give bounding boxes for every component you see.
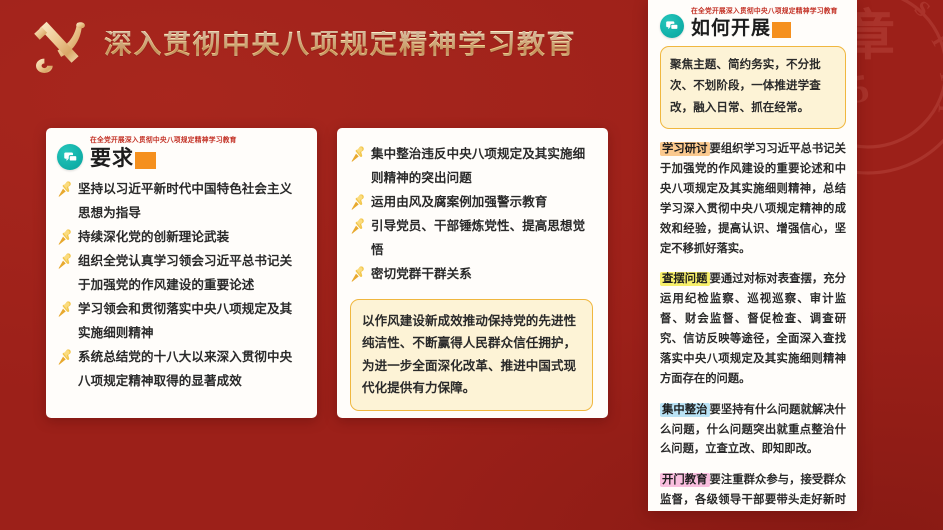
tasks-list: 集中整治违反中央八项规定及其实施细则精神的突出问题运用由风及腐案例加强警示教育引… <box>350 142 593 286</box>
list-item: 持续深化党的创新理论武装 <box>57 225 303 249</box>
howto-summary: 聚焦主题、简约务实，不分批次、不划阶段，一体推进学查改，融入日常、抓在经常。 <box>660 46 846 129</box>
howto-paragraph: 学习研讨要组织学习习近平总书记关于加强党的作风建设的重要论述和中央八项规定及其实… <box>660 140 846 259</box>
chat-bubble-icon <box>660 14 684 38</box>
pushpin-icon <box>350 218 365 234</box>
howto-paragraph-tag: 学习研讨 <box>660 142 710 156</box>
list-item: 引导党员、干部锤炼党性、提高思想觉悟 <box>350 214 593 262</box>
svg-text:T: T <box>934 65 943 86</box>
howto-paragraph-body: 要通过对标对表查摆，充分运用纪检监察、巡视巡察、审计监督、财会监督、督促检查、调… <box>660 273 846 384</box>
list-item: 运用由风及腐案例加强警示教育 <box>350 190 593 214</box>
panel-kicker: 在全党开展深入贯彻中央八项规定精神学习教育 <box>691 8 838 16</box>
list-item-label: 密切党群干群关系 <box>371 267 472 281</box>
card-heading-text: 要求 <box>90 147 134 170</box>
list-item: 组织全党认真学习领会习近平总书记关于加强党的作风建设的重要论述 <box>57 249 303 297</box>
list-item-label: 坚持以习近平新时代中国特色社会主义思想为指导 <box>78 182 292 220</box>
requirements-list: 坚持以习近平新时代中国特色社会主义思想为指导持续深化党的创新理论武装组织全党认真… <box>57 177 303 393</box>
panel-heading: 如何开展 <box>691 18 791 39</box>
list-item-label: 系统总结党的十八大以来深入贯彻中央八项规定精神取得的显著成效 <box>78 350 292 388</box>
svg-text:I: I <box>927 30 943 50</box>
pushpin-icon <box>57 181 72 197</box>
howto-paragraph: 集中整治要坚持有什么问题就解决什么问题，什么问题突出就重点整治什么问题，立查立改… <box>660 401 846 461</box>
list-item-label: 学习领会和贯彻落实中央八项规定及其实施细则精神 <box>78 302 292 340</box>
list-item: 集中整治违反中央八项规定及其实施细则精神的突出问题 <box>350 142 593 190</box>
chat-bubble-icon <box>57 144 83 170</box>
card-requirements: 在全党开展深入贯彻中央八项规定精神学习教育 要求 坚持以习近平新时代中国特色社会… <box>46 128 317 418</box>
pushpin-icon <box>57 301 72 317</box>
list-item: 学习领会和贯彻落实中央八项规定及其实施细则精神 <box>57 297 303 345</box>
howto-paragraph-tag: 开门教育 <box>660 473 710 487</box>
list-item-label: 引导党员、干部锤炼党性、提高思想觉悟 <box>371 219 585 257</box>
list-item: 坚持以习近平新时代中国特色社会主义思想为指导 <box>57 177 303 225</box>
svg-text:S: S <box>910 0 936 22</box>
howto-paragraph: 查摆问题要通过对标对表查摆，充分运用纪检监察、巡视巡察、审计监督、财会监督、督促… <box>660 270 846 389</box>
list-item: 密切党群干群关系 <box>350 262 593 286</box>
card-kicker: 在全党开展深入贯彻中央八项规定精神学习教育 <box>90 137 237 145</box>
pushpin-icon <box>57 229 72 245</box>
list-item-label: 集中整治违反中央八项规定及其实施细则精神的突出问题 <box>371 147 585 185</box>
list-item-label: 运用由风及腐案例加强警示教育 <box>371 195 547 209</box>
page-title: 深入贯彻中央八项规定精神学习教育 <box>104 31 576 59</box>
howto-paragraph-body: 要组织学习习近平总书记关于加强党的作风建设的重要论述和中央八项规定及其实施细则精… <box>660 143 846 254</box>
howto-paragraph-tag: 查摆问题 <box>660 272 710 286</box>
card-requirements-header: 在全党开展深入贯彻中央八项规定精神学习教育 要求 <box>57 137 303 170</box>
list-item: 系统总结党的十八大以来深入贯彻中央八项规定精神取得的显著成效 <box>57 345 303 393</box>
howto-paragraph: 开门教育要注重群众参与，接受群众监督，各级领导干部要带头走好新时代党的群众路线，… <box>660 471 846 511</box>
panel-howto: 在全党开展深入贯彻中央八项规定精神学习教育 如何开展 聚焦主题、简约务实，不分批… <box>648 0 857 511</box>
hammer-sickle-icon <box>28 16 90 74</box>
howto-paragraph-list: 学习研讨要组织学习习近平总书记关于加强党的作风建设的重要论述和中央八项规定及其实… <box>660 140 846 511</box>
card-tasks: 集中整治违反中央八项规定及其实施细则精神的突出问题运用由风及腐案例加强警示教育引… <box>337 128 608 418</box>
panel-heading-text: 如何开展 <box>691 18 771 39</box>
pushpin-icon <box>350 194 365 210</box>
pushpin-icon <box>57 349 72 365</box>
list-item-label: 组织全党认真学习领会习近平总书记关于加强党的作风建设的重要论述 <box>78 254 292 292</box>
pushpin-icon <box>57 253 72 269</box>
card-heading: 要求 <box>90 147 156 171</box>
svg-text:Y: Y <box>933 100 943 117</box>
tasks-callout: 以作风建设新成效推动保持党的先进性纯洁性、不断赢得人民群众信任拥护，为进一步全面… <box>350 299 593 411</box>
panel-howto-header: 在全党开展深入贯彻中央八项规定精神学习教育 如何开展 <box>660 8 846 39</box>
pushpin-icon <box>350 146 365 162</box>
list-item-label: 持续深化党的创新理论武装 <box>78 230 229 244</box>
pushpin-icon <box>350 266 365 282</box>
howto-paragraph-tag: 集中整治 <box>660 403 710 417</box>
page-header: 深入贯彻中央八项规定精神学习教育 <box>28 16 576 74</box>
